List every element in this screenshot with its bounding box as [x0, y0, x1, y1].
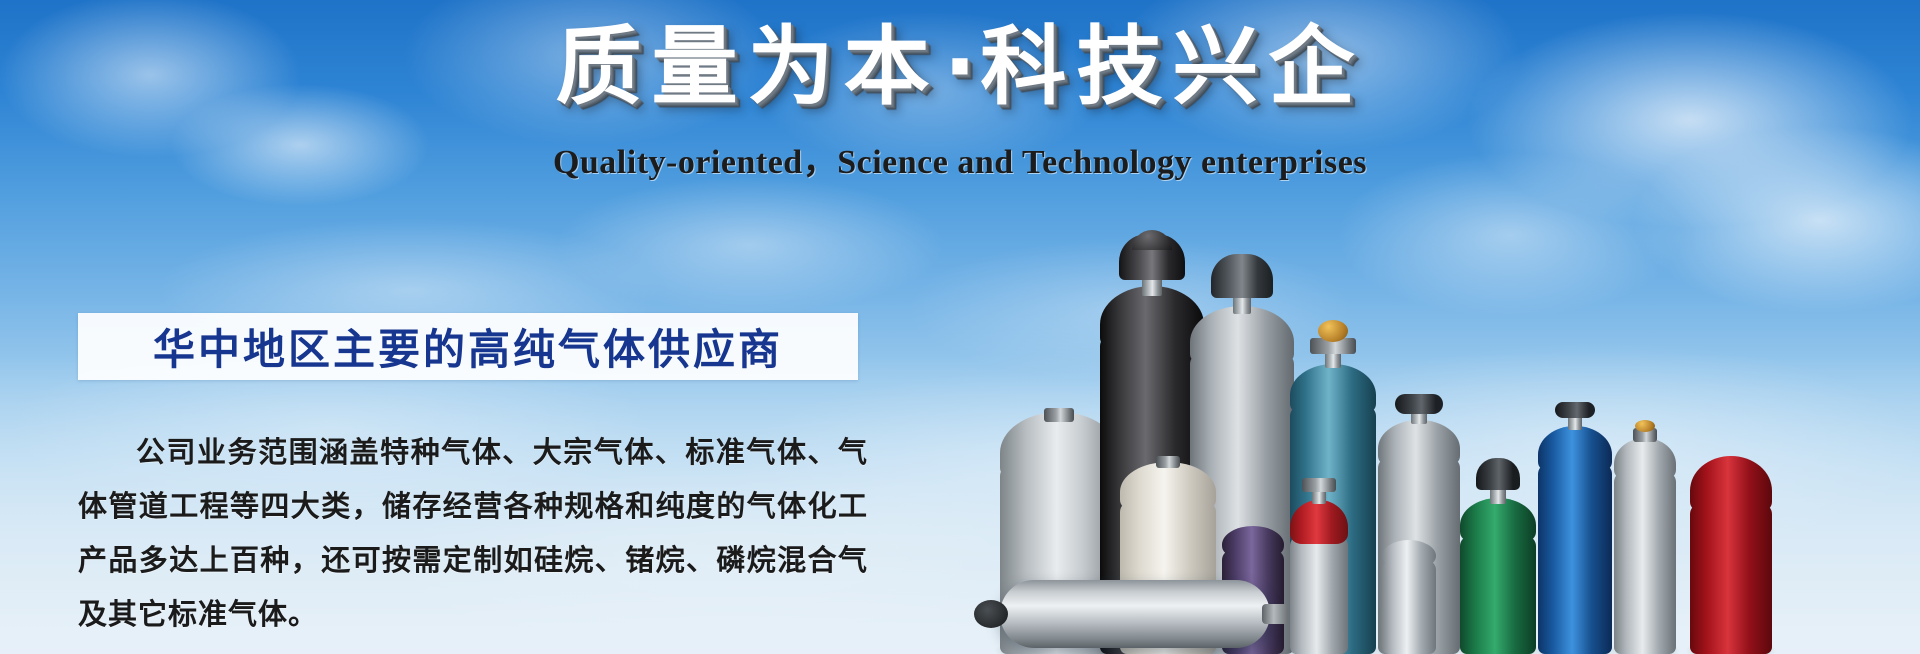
cylinder-body	[1614, 472, 1676, 654]
cylinder-shoulder	[1690, 456, 1772, 512]
cylinder-guard-cap	[1211, 254, 1273, 298]
aluminium-cylinder	[1614, 424, 1676, 654]
headline-part-two: 科技兴企	[980, 17, 1364, 117]
cylinder-body	[1290, 536, 1348, 654]
cylinder-body	[1538, 464, 1612, 654]
cylinder-shoulder	[1120, 462, 1216, 510]
cylinder-handle	[1132, 230, 1172, 250]
cylinder-guard-cap	[1476, 458, 1520, 490]
cylinder-shoulder	[1382, 540, 1436, 566]
gas-cylinder-group	[990, 154, 1920, 654]
cylinder-shoulder	[1290, 364, 1376, 414]
green-cylinder	[1460, 458, 1536, 654]
promo-banner: 质量为本·科技兴企 Quality-oriented，Science and T…	[0, 0, 1920, 654]
tagline-plate: 华中地区主要的高纯气体供应商	[78, 313, 858, 380]
headline-separator: ·	[940, 17, 981, 117]
cylinder-shoulder	[1460, 498, 1536, 542]
lying-cylinder-neck	[1262, 604, 1288, 624]
lying-cylinder-valve	[974, 600, 1008, 628]
banner-body-paragraph: 公司业务范围涵盖特种气体、大宗气体、标准气体、气体管道工程等四大类，储存经营各种…	[78, 425, 868, 641]
cylinder-body	[1460, 536, 1536, 654]
red-cap-cylinder	[1290, 476, 1348, 654]
cylinder-shoulder	[1222, 526, 1284, 556]
cylinder-collar	[1156, 456, 1180, 468]
valve-knob-icon	[1635, 420, 1655, 432]
cylinder-shoulder	[1378, 420, 1460, 466]
banner-headline: 质量为本·科技兴企	[0, 22, 1920, 113]
tagline-text: 华中地区主要的高纯气体供应商	[153, 316, 783, 377]
headline-part-one: 质量为本	[556, 17, 940, 117]
dark-red-cylinder	[1690, 456, 1772, 654]
cylinder-body	[1382, 560, 1436, 654]
blue-cylinder	[1538, 404, 1612, 654]
small-aluminium-cylinder	[1382, 534, 1436, 654]
cylinder-shoulder	[1190, 306, 1294, 364]
cylinder-body	[1690, 504, 1772, 654]
cylinder-valve-cap	[1555, 402, 1595, 418]
valve-knob-icon	[1318, 320, 1348, 342]
cylinder-shoulder	[1538, 426, 1612, 472]
cylinder-collar	[1302, 478, 1336, 492]
cylinder-shoulder-red	[1290, 500, 1348, 544]
cylinder-shoulder	[1614, 438, 1676, 480]
cylinder-collar	[1044, 408, 1074, 422]
lying-cylinder	[1000, 580, 1270, 648]
cylinder-valve-cap	[1395, 394, 1443, 414]
